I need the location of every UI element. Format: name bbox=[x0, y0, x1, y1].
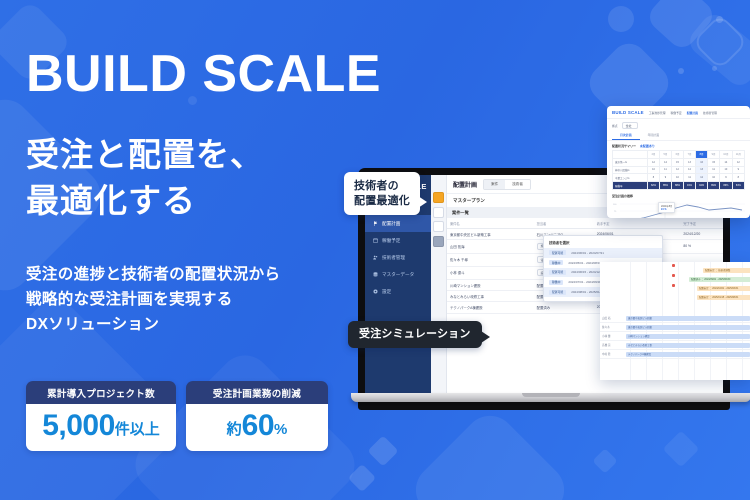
chart-line bbox=[621, 205, 742, 218]
bg-diamond-small-1 bbox=[367, 435, 398, 466]
matrix-col: 11月 bbox=[732, 151, 744, 159]
filter-icon[interactable] bbox=[433, 221, 444, 232]
matrix-col: 10月 bbox=[720, 151, 733, 159]
gantt-panel: 配置未定 ： 技術者調整 配置済み ： 2024/09/01 - 2025/06… bbox=[600, 262, 750, 380]
matrix-cell: 9 bbox=[720, 174, 733, 182]
svg-text:75: 75 bbox=[614, 211, 617, 213]
matrix-row-label: 千葉エンジG bbox=[613, 174, 648, 182]
cell-person: 配置済み bbox=[534, 302, 594, 313]
cell-name: 山田 拓海 bbox=[447, 240, 534, 253]
matrix-row[interactable]: 神奈川設備G 10 11 12 14 13 11 10 9 bbox=[613, 166, 745, 174]
col-end: 完了予定 bbox=[680, 218, 723, 229]
sidebar-label: 配置計画 bbox=[382, 221, 400, 227]
gantt-bar[interactable]: テクノパークA棟建設 bbox=[626, 352, 750, 357]
cell-name: みなとみらい改修工事 bbox=[447, 291, 534, 302]
alert-marker bbox=[672, 264, 675, 267]
tab-gijutsusha[interactable]: 技術者 bbox=[505, 180, 530, 189]
matrix-header-row: 4月 5月 6月 7月 8月 9月 10月 11月 bbox=[613, 151, 745, 159]
matrix-cell: 9 bbox=[659, 174, 671, 182]
page-title: 配置計画 bbox=[453, 180, 477, 189]
date-range: 2024/06/01 - 2024/07/31 bbox=[571, 251, 604, 255]
date-range: 2024/06/15 - 2024/12/20 bbox=[571, 270, 604, 274]
cell-name: 川崎マンション建設 bbox=[447, 279, 534, 290]
matrix-cell: 15 bbox=[708, 158, 720, 166]
bg-square-1 bbox=[644, 0, 717, 53]
sidebar-item-kadou[interactable]: 稼働予定 bbox=[365, 232, 431, 249]
panel-header: BUILD SCALE 工事進捗管理 稼働予定 配置計画 技術者管理 bbox=[607, 106, 750, 119]
alert-marker bbox=[672, 274, 675, 277]
subheading-line-3: DXソリューション bbox=[26, 312, 280, 337]
trend-chart-box: 受注計画の推移 10075 5025 2024年8月 bbox=[607, 190, 750, 218]
matrix-note: 未配置あり bbox=[640, 144, 655, 148]
matrix-cell: 15 bbox=[672, 158, 684, 166]
view-tabs: 案件 技術者 bbox=[483, 179, 531, 190]
matrix-title-text: 配置状況サマリー bbox=[612, 144, 636, 148]
matrix-cell: 11 bbox=[684, 174, 696, 182]
matrix-col: 6月 bbox=[672, 151, 684, 159]
matrix-footer-label: 稼働率 bbox=[613, 182, 648, 190]
callout-technician-optimization: 技術者の 配置最適化 bbox=[344, 172, 420, 215]
tab-anken[interactable]: 案件 bbox=[484, 180, 505, 189]
matrix-cell: 12 bbox=[732, 158, 744, 166]
stat-unit: 件以上 bbox=[115, 421, 160, 438]
gantt-bar[interactable]: 川崎マンション建設 bbox=[626, 334, 750, 339]
stat-prefix: 約 bbox=[227, 421, 242, 438]
matrix-cell: 8 bbox=[732, 174, 744, 182]
gantt-bar[interactable]: 配置未定 ： 2024/10/01 - 2025/03/31 bbox=[697, 286, 750, 291]
bg-square-3 bbox=[603, 1, 640, 38]
gantt-bar[interactable]: 東京都中央区ビル新築 bbox=[626, 325, 750, 330]
status-badge: 配置可能 bbox=[549, 290, 566, 295]
matrix-cell: 12 bbox=[672, 166, 684, 174]
matrix-corner bbox=[613, 151, 648, 159]
people-icon bbox=[373, 255, 378, 260]
bg-diamond-small-2 bbox=[348, 464, 376, 492]
matrix-row[interactable]: 東京第一G 12 14 15 13 16 15 14 12 bbox=[613, 158, 745, 166]
trend-chart: 10075 5025 2024年8月 94 % bbox=[612, 200, 745, 218]
bg-circle-1 bbox=[716, 16, 723, 23]
sidebar-label: マスターデータ bbox=[382, 272, 414, 278]
matrix-cell: 10 bbox=[720, 166, 733, 174]
gantt-row[interactable]: 中村 陸 テクノパークA棟建設 bbox=[600, 350, 750, 359]
status-badge: 稼働中 bbox=[549, 260, 563, 265]
gantt-bar[interactable]: みなとみらい改修工事 bbox=[626, 343, 750, 348]
allocation-matrix: 4月 5月 6月 7月 8月 9月 10月 11月 東京第一G 12 14 15… bbox=[612, 150, 745, 190]
app-icon-rail bbox=[431, 175, 447, 393]
col-person: 担当者 bbox=[534, 218, 594, 229]
matrix-cell: 8 bbox=[647, 174, 659, 182]
promo-banner: BUILD SCALE 受注と配置を、 最適化する 受注の進捗と技術者の配置状況… bbox=[0, 0, 750, 500]
nav-item[interactable]: 工事進捗管理 bbox=[649, 111, 666, 115]
matrix-footer-cell: 89% bbox=[708, 182, 720, 190]
dropdown-item[interactable]: 配置可能 2024/06/01 - 2024/07/31 bbox=[544, 248, 662, 258]
matrix-cell: 13 bbox=[684, 158, 696, 166]
sidebar-label: 稼働予定 bbox=[382, 238, 400, 244]
matrix-cell: 11 bbox=[659, 166, 671, 174]
matrix-title: 配置状況サマリー 未配置あり bbox=[607, 141, 750, 150]
sidebar-item-gijutsusha[interactable]: 技術者管理 bbox=[365, 249, 431, 266]
matrix-footer-cell: 86% bbox=[720, 182, 733, 190]
status-badge: 配置可能 bbox=[549, 270, 566, 275]
headline-line-1: 受注と配置を、 bbox=[26, 132, 264, 178]
dropdown-title: 技術者を選択 bbox=[544, 239, 662, 248]
gantt-bar[interactable]: 配置済み ： 2024/09/01 - 2025/06/30 bbox=[689, 277, 750, 282]
bg-diamond-small-3 bbox=[592, 448, 617, 473]
gantt-right-bars: 配置未定 ： 技術者調整 配置済み ： 2024/09/01 - 2025/06… bbox=[703, 266, 748, 298]
chart-title: 受注計画の推移 bbox=[612, 194, 745, 198]
cell-end: 2024/12/20 bbox=[680, 229, 723, 240]
tab-monthly[interactable]: 月次計画 bbox=[612, 131, 640, 140]
subheading-line-2: 戦略的な受注計画を実現する bbox=[26, 287, 280, 312]
sidebar-label: 技術者管理 bbox=[382, 255, 405, 261]
matrix-col: 7月 bbox=[684, 151, 696, 159]
status-badge: 配置可能 bbox=[549, 250, 566, 255]
gantt-row-label: 中村 陸 bbox=[602, 352, 611, 356]
bg-square-2 bbox=[685, 9, 750, 90]
add-icon[interactable] bbox=[433, 207, 444, 218]
headline: 受注と配置を、 最適化する bbox=[26, 132, 264, 223]
callout-line-1: 受注シミュレーション bbox=[359, 327, 471, 342]
matrix-footer-cell: 91% bbox=[684, 182, 696, 190]
flag-icon bbox=[373, 221, 378, 226]
chart-tooltip: 2024年8月 94 % bbox=[658, 202, 675, 213]
matrix-cell: 14 bbox=[659, 158, 671, 166]
panel-nav: 工事進捗管理 稼働予定 配置計画 技術者管理 bbox=[649, 111, 717, 115]
panel-filter-row: 拠点 全社 bbox=[607, 119, 750, 131]
stat-card-projects: 累計導入プロジェクト数 5,000件以上 bbox=[26, 381, 176, 451]
stats-row: 累計導入プロジェクト数 5,000件以上 受注計画業務の削減 約60% bbox=[26, 381, 328, 451]
bg-square-6 bbox=[405, 405, 575, 500]
gantt-bar[interactable]: 配置未定 ： 2025/01/15 - 2025/08/31 bbox=[697, 295, 750, 300]
matrix-cell: 10 bbox=[647, 166, 659, 174]
matrix-cell: 10 bbox=[708, 174, 720, 182]
col-start: 着手予定 bbox=[594, 218, 681, 229]
filter-select[interactable]: 全社 bbox=[622, 122, 638, 129]
sidebar-item-master[interactable]: マスターデータ bbox=[365, 266, 431, 283]
bg-circle-2 bbox=[678, 68, 684, 74]
matrix-footer-cell: 82% bbox=[647, 182, 659, 190]
col-name: 案件名 bbox=[447, 218, 534, 229]
callout-tail bbox=[418, 196, 427, 208]
gear-icon bbox=[373, 289, 378, 294]
alert-marker bbox=[672, 284, 675, 287]
matrix-row[interactable]: 千葉エンジG 8 9 10 11 12 10 9 8 bbox=[613, 174, 745, 182]
matrix-footer-cell: 94% bbox=[696, 182, 708, 190]
nav-item[interactable]: 技術者管理 bbox=[703, 111, 717, 115]
bg-square-outline-1 bbox=[692, 14, 749, 71]
dashboard-panel: BUILD SCALE 工事進捗管理 稼働予定 配置計画 技術者管理 拠点 全社… bbox=[607, 106, 750, 218]
cell-name: 東京都中央区ビル新築工事 bbox=[447, 229, 534, 240]
stat-label: 累計導入プロジェクト数 bbox=[26, 381, 176, 404]
gantt-row-label: 小林 優 bbox=[602, 334, 611, 338]
svg-text:100: 100 bbox=[613, 204, 617, 206]
gantt-bar[interactable]: 東京都中央区ビル新築 bbox=[626, 316, 750, 321]
gantt-row[interactable]: 小林 優 川崎マンション建設 bbox=[600, 332, 750, 341]
tooltip-value: 94 % bbox=[661, 208, 672, 211]
date-range: 2024/05/01 - 2024/08/31 bbox=[568, 261, 601, 265]
tab-yearly[interactable]: 年間計画 bbox=[640, 131, 668, 140]
date-range: 2024/07/01 - 2024/09/30 bbox=[568, 280, 601, 284]
grid-icon[interactable] bbox=[433, 236, 444, 247]
matrix-cell: 9 bbox=[732, 166, 744, 174]
stat-card-reduction: 受注計画業務の削減 約60% bbox=[186, 381, 328, 451]
headline-line-2: 最適化する bbox=[26, 178, 264, 224]
matrix-col: 5月 bbox=[659, 151, 671, 159]
stat-value-wrap: 5,000件以上 bbox=[26, 404, 176, 451]
gantt-row[interactable]: 佐々木 東京都中央区ビル新築 bbox=[600, 323, 750, 332]
nav-item-active[interactable]: 配置計画 bbox=[687, 111, 698, 115]
matrix-cell: 11 bbox=[708, 166, 720, 174]
callout-line-2: 配置最適化 bbox=[354, 194, 410, 209]
matrix-footer-cell: 88% bbox=[672, 182, 684, 190]
stat-value-wrap: 約60% bbox=[186, 404, 328, 451]
gantt-row-label: 佐々木 bbox=[602, 325, 610, 329]
sidebar-item-haichi[interactable]: 配置計画 bbox=[365, 215, 431, 232]
database-icon bbox=[373, 272, 378, 277]
matrix-cell: 12 bbox=[647, 158, 659, 166]
laptop-notch bbox=[522, 393, 580, 397]
subheading-line-1: 受注の進捗と技術者の配置状況から bbox=[26, 262, 280, 287]
panel-logo: BUILD SCALE bbox=[612, 110, 644, 115]
laptop-base bbox=[351, 393, 750, 402]
matrix-footer-cell: 84% bbox=[732, 182, 744, 190]
matrix-row-label: 東京第一G bbox=[613, 158, 648, 166]
cell-name: 佐々木 千尋 bbox=[447, 253, 534, 266]
stat-label: 受注計画業務の削減 bbox=[186, 381, 328, 404]
callout-line-1: 技術者の bbox=[354, 179, 410, 194]
stat-value: 60 bbox=[242, 409, 274, 442]
nav-item[interactable]: 稼働予定 bbox=[671, 111, 682, 115]
stat-unit: % bbox=[274, 421, 287, 438]
matrix-row-label: 神奈川設備G bbox=[613, 166, 648, 174]
status-badge: 稼働中 bbox=[549, 280, 563, 285]
date-range: 2024/08/01 - 2025/01/31 bbox=[571, 290, 604, 294]
edit-icon[interactable] bbox=[433, 192, 444, 203]
filter-label: 拠点 bbox=[612, 124, 618, 128]
matrix-cell: 14 bbox=[684, 166, 696, 174]
cell-name: 小林 優斗 bbox=[447, 266, 534, 279]
line-chart-svg: 10075 5025 bbox=[612, 200, 745, 218]
bg-circle-3 bbox=[712, 66, 717, 71]
gantt-row-label: 山田 拓 bbox=[602, 316, 611, 320]
matrix-cell: 12 bbox=[696, 174, 708, 182]
table-header-row: 案件名 担当者 着手予定 完了予定 bbox=[447, 218, 723, 229]
gantt-row[interactable]: 山田 拓 東京都中央区ビル新築 bbox=[600, 314, 750, 323]
gantt-row[interactable]: 高橋 涼 みなとみらい改修工事 bbox=[600, 341, 750, 350]
panel-tabs: 月次計画 年間計画 bbox=[607, 131, 750, 141]
sidebar-label: 設定 bbox=[382, 289, 391, 295]
matrix-col: 4月 bbox=[647, 151, 659, 159]
matrix-cell: 14 bbox=[720, 158, 733, 166]
subheading: 受注の進捗と技術者の配置状況から 戦略的な受注計画を実現する DXソリューション bbox=[26, 262, 280, 337]
calendar-icon bbox=[373, 238, 378, 243]
cell-end: 80 % bbox=[680, 240, 723, 253]
matrix-footer-row: 稼働率 82% 85% 88% 91% 94% 89% 86% 84% bbox=[613, 182, 745, 190]
matrix-footer-cell: 85% bbox=[659, 182, 671, 190]
callout-tail bbox=[481, 331, 490, 343]
gantt-bar[interactable]: 配置未定 ： 技術者調整 bbox=[703, 268, 750, 273]
matrix-cell: 16 bbox=[696, 158, 708, 166]
callout-order-simulation: 受注シミュレーション bbox=[348, 321, 482, 348]
matrix-cell: 13 bbox=[696, 166, 708, 174]
sidebar-item-settings[interactable]: 設定 bbox=[365, 283, 431, 300]
gantt-row-label: 高橋 涼 bbox=[602, 343, 611, 347]
matrix-col: 9月 bbox=[708, 151, 720, 159]
gantt-rows: 山田 拓 東京都中央区ビル新築 佐々木 東京都中央区ビル新築 小林 優 川崎マン… bbox=[600, 314, 750, 359]
cell-name: テクノパークA棟建設 bbox=[447, 302, 534, 313]
matrix-cell: 10 bbox=[672, 174, 684, 182]
stat-value: 5,000 bbox=[42, 409, 115, 442]
chart-y-ticks: 10075 5025 bbox=[613, 204, 617, 218]
brand-title: BUILD SCALE bbox=[26, 48, 381, 100]
bg-diamond-small-4 bbox=[663, 431, 700, 468]
matrix-col-highlight: 8月 bbox=[696, 151, 708, 159]
